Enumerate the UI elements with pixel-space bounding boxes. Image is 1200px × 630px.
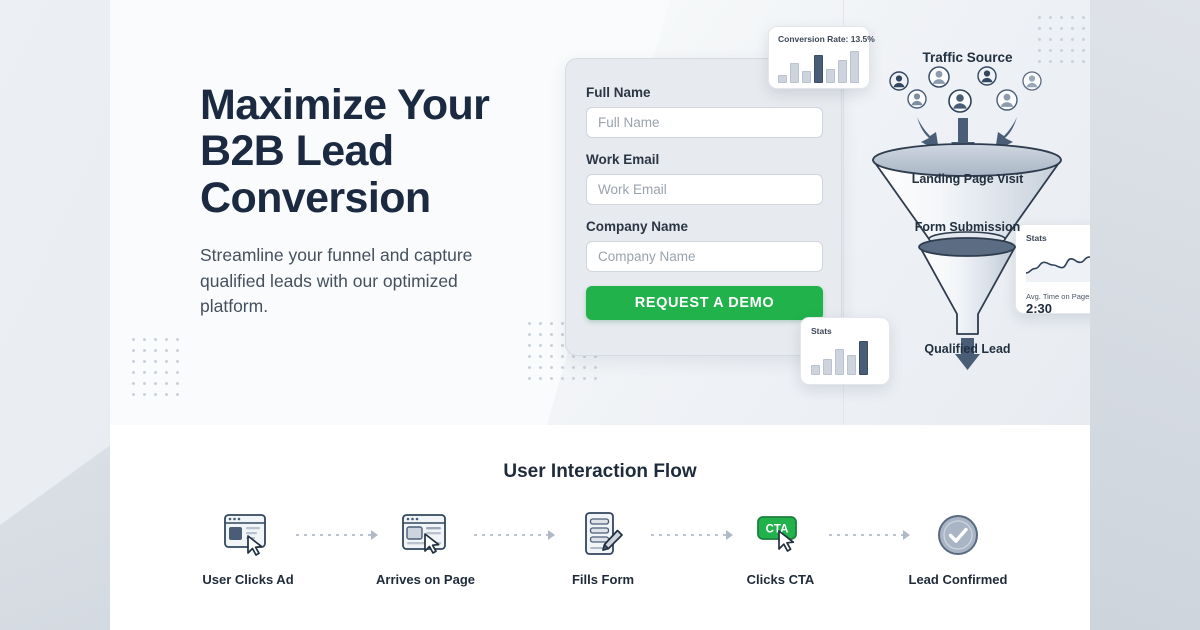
check-circle-icon — [935, 510, 981, 560]
landing-page-cursor-icon — [401, 510, 451, 560]
browser-ad-cursor-icon — [223, 510, 273, 560]
full-name-input[interactable]: Full Name — [586, 107, 823, 138]
page-title: Maximize Your B2B Lead Conversion — [200, 82, 510, 221]
flow-step-clicks-cta[interactable]: CTA Clicks CTA — [721, 510, 841, 587]
work-email-label: Work Email — [586, 152, 821, 167]
document-pencil-icon — [579, 510, 627, 560]
funnel-stage-landing-page: Landing Page Visit — [845, 172, 1090, 187]
user-interaction-flow-section: User Interaction Flow User Clicks — [110, 425, 1090, 630]
conversion-funnel-diagram: Traffic Source — [845, 42, 1090, 372]
hero-section: Maximize Your B2B Lead Conversion Stream… — [110, 0, 1090, 425]
lead-capture-form: Full Name Full Name Work Email Work Emai… — [565, 58, 842, 356]
flow-step-label: Fills Form — [572, 572, 634, 587]
flow-step-label: Lead Confirmed — [909, 572, 1008, 587]
company-name-label: Company Name — [586, 219, 821, 234]
request-demo-button[interactable]: REQUEST A DEMO — [586, 286, 823, 320]
cta-button-cursor-icon: CTA — [755, 510, 807, 560]
work-email-input[interactable]: Work Email — [586, 174, 823, 205]
content-panel: Maximize Your B2B Lead Conversion Stream… — [110, 0, 1090, 630]
funnel-graphic — [845, 42, 1090, 372]
flow-step-label: Arrives on Page — [376, 572, 475, 587]
flow-step-fills-form[interactable]: Fills Form — [543, 510, 663, 587]
flow-step-user-clicks-ad[interactable]: User Clicks Ad — [188, 510, 308, 587]
company-name-input[interactable]: Company Name — [586, 241, 823, 272]
flow-step-arrives-on-page[interactable]: Arrives on Page — [366, 510, 486, 587]
hero-copy: Maximize Your B2B Lead Conversion Stream… — [200, 82, 510, 319]
traffic-source-people — [890, 67, 1041, 112]
funnel-stage-qualified-lead: Qualified Lead — [845, 342, 1090, 357]
dot-grid-left — [132, 338, 187, 404]
cta-badge-text: CTA — [765, 524, 788, 536]
flow-section-title: User Interaction Flow — [110, 461, 1090, 483]
flow-step-label: Clicks CTA — [747, 572, 815, 587]
page-subtitle: Streamline your funnel and capture quali… — [200, 243, 510, 319]
flow-step-lead-confirmed[interactable]: Lead Confirmed — [898, 510, 1018, 587]
flow-steps: User Clicks Ad — [188, 510, 1018, 587]
background-right-panel — [1085, 0, 1200, 630]
flow-step-label: User Clicks Ad — [202, 572, 293, 587]
funnel-stage-form-submission: Form Submission — [845, 220, 1090, 235]
